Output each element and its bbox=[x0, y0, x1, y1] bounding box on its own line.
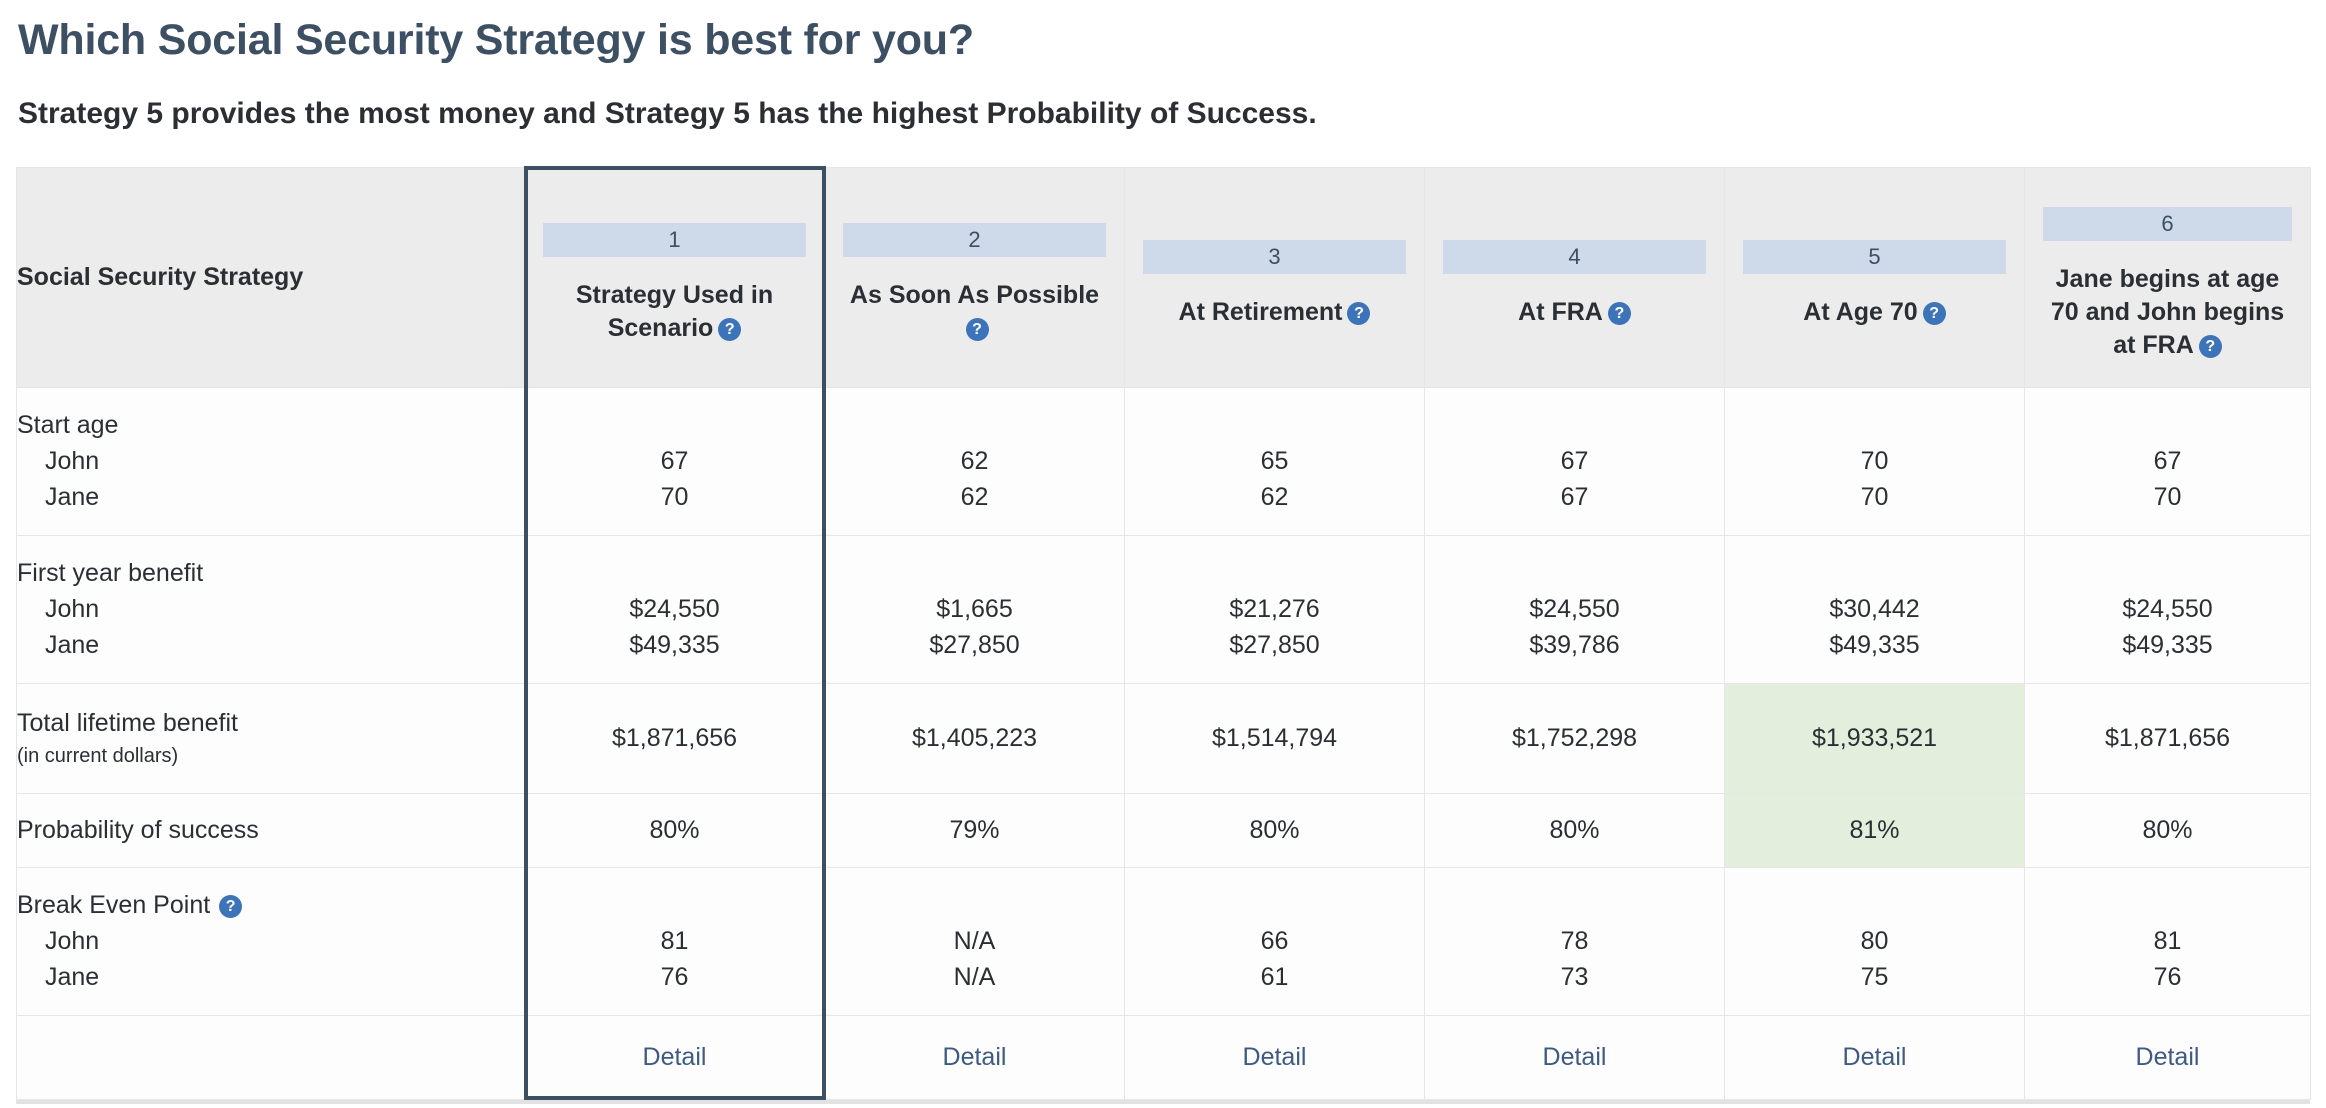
column-header-3: 3 At Retirement? bbox=[1125, 167, 1425, 387]
table-row-break-even-point: Break Even Point? John Jane x 81 76 x N/… bbox=[17, 867, 2311, 1015]
column-number-badge-5: 5 bbox=[1743, 240, 2006, 274]
value-john: 67 bbox=[2025, 443, 2310, 479]
table-corner-label: Social Security Strategy bbox=[17, 167, 525, 387]
help-icon-column-1[interactable]: ? bbox=[718, 318, 741, 341]
cell-start-age-col2: x 62 62 bbox=[825, 387, 1125, 535]
help-icon-column-4[interactable]: ? bbox=[1608, 302, 1631, 325]
value-john: $24,550 bbox=[1425, 591, 1724, 627]
cell-first-year-benefit-col4: x $24,550 $39,786 bbox=[1425, 535, 1725, 683]
row-sublabel-jane: Jane bbox=[17, 627, 524, 663]
table-row-detail-links: Detail Detail Detail Detail Detail Detai… bbox=[17, 1015, 2311, 1099]
help-icon-column-3[interactable]: ? bbox=[1347, 302, 1370, 325]
detail-link-3[interactable]: Detail bbox=[1243, 1043, 1307, 1071]
value-john: $21,276 bbox=[1125, 591, 1424, 627]
cell-detail-col2: Detail bbox=[825, 1015, 1125, 1099]
row-label-text: Start age bbox=[17, 407, 524, 443]
cell-probability-col6: 80% bbox=[2025, 793, 2311, 867]
value-john: 70 bbox=[1725, 443, 2024, 479]
value-jane: 62 bbox=[1125, 479, 1424, 515]
cell-start-age-col6: x 67 70 bbox=[2025, 387, 2311, 535]
cell-first-year-benefit-col5: x $30,442 $49,335 bbox=[1725, 535, 2025, 683]
value: 80% bbox=[2025, 812, 2310, 848]
column-number-badge-2: 2 bbox=[843, 223, 1106, 257]
row-label-break-even-point: Break Even Point? John Jane bbox=[17, 867, 525, 1015]
value-jane: $49,335 bbox=[1725, 627, 2024, 663]
row-label-detail bbox=[17, 1015, 525, 1099]
help-icon-column-5[interactable]: ? bbox=[1923, 302, 1946, 325]
row-label-text: Probability of success bbox=[17, 812, 524, 848]
help-icon-column-2[interactable]: ? bbox=[966, 318, 989, 341]
value-jane: 61 bbox=[1125, 959, 1424, 995]
value-jane: 70 bbox=[1725, 479, 2024, 515]
cell-total-lifetime-benefit-col6: $1,871,656 bbox=[2025, 683, 2311, 793]
cell-detail-col4: Detail bbox=[1425, 1015, 1725, 1099]
detail-link-5[interactable]: Detail bbox=[1843, 1043, 1907, 1071]
value-john: $1,665 bbox=[825, 591, 1124, 627]
column-title-1: Strategy Used in Scenario bbox=[576, 281, 773, 342]
table-row-start-age: Start age John Jane x 67 70 x 62 62 x 65 bbox=[17, 387, 2311, 535]
social-security-strategy-table: Social Security Strategy 1 Strategy Used… bbox=[16, 167, 2311, 1100]
help-icon-column-6[interactable]: ? bbox=[2199, 335, 2222, 358]
page-title: Which Social Security Strategy is best f… bbox=[18, 14, 2310, 68]
row-label-note: (in current dollars) bbox=[17, 741, 524, 771]
column-number-badge-1: 1 bbox=[543, 223, 806, 257]
value-jane: 75 bbox=[1725, 959, 2024, 995]
detail-link-4[interactable]: Detail bbox=[1543, 1043, 1607, 1071]
cell-break-even-col6: x 81 76 bbox=[2025, 867, 2311, 1015]
value-john: 67 bbox=[1425, 443, 1724, 479]
column-title-6: Jane begins at age 70 and John begins at… bbox=[2051, 265, 2284, 359]
row-label-text: First year benefit bbox=[17, 555, 524, 591]
value: $1,405,223 bbox=[825, 720, 1124, 756]
cell-start-age-col1: x 67 70 bbox=[525, 387, 825, 535]
value-jane: $39,786 bbox=[1425, 627, 1724, 663]
cell-first-year-benefit-col6: x $24,550 $49,335 bbox=[2025, 535, 2311, 683]
value: 80% bbox=[525, 812, 824, 848]
cell-break-even-col2: x N/A N/A bbox=[825, 867, 1125, 1015]
value-jane: 70 bbox=[2025, 479, 2310, 515]
table-row-first-year-benefit: First year benefit John Jane x $24,550 $… bbox=[17, 535, 2311, 683]
row-label-line: Break Even Point? bbox=[17, 887, 524, 923]
bottom-divider bbox=[16, 1100, 2310, 1104]
table-row-total-lifetime-benefit: Total lifetime benefit (in current dolla… bbox=[17, 683, 2311, 793]
cell-start-age-col3: x 65 62 bbox=[1125, 387, 1425, 535]
cell-detail-col1: Detail bbox=[525, 1015, 825, 1099]
value-john: $30,442 bbox=[1725, 591, 2024, 627]
column-number-badge-6: 6 bbox=[2043, 207, 2292, 241]
column-title-4: At FRA bbox=[1518, 298, 1603, 326]
cell-first-year-benefit-col3: x $21,276 $27,850 bbox=[1125, 535, 1425, 683]
cell-total-lifetime-benefit-col5: $1,933,521 bbox=[1725, 683, 2025, 793]
value: 79% bbox=[825, 812, 1124, 848]
detail-link-2[interactable]: Detail bbox=[943, 1043, 1007, 1071]
value: $1,871,656 bbox=[2025, 720, 2310, 756]
value-jane: 67 bbox=[1425, 479, 1724, 515]
value: 81% bbox=[1725, 812, 2024, 848]
value-john: 65 bbox=[1125, 443, 1424, 479]
help-icon-break-even-point[interactable]: ? bbox=[219, 895, 242, 918]
column-number-badge-3: 3 bbox=[1143, 240, 1406, 274]
column-header-2: 2 As Soon As Possible? bbox=[825, 167, 1125, 387]
column-header-5: 5 At Age 70? bbox=[1725, 167, 2025, 387]
cell-probability-col1: 80% bbox=[525, 793, 825, 867]
value-jane: 76 bbox=[525, 959, 824, 995]
value: $1,514,794 bbox=[1125, 720, 1424, 756]
cell-first-year-benefit-col1: x $24,550 $49,335 bbox=[525, 535, 825, 683]
value-jane: $27,850 bbox=[825, 627, 1124, 663]
row-label-probability-of-success: Probability of success bbox=[17, 793, 525, 867]
value-jane: $27,850 bbox=[1125, 627, 1424, 663]
value-john: 62 bbox=[825, 443, 1124, 479]
column-header-4: 4 At FRA? bbox=[1425, 167, 1725, 387]
cell-break-even-col4: x 78 73 bbox=[1425, 867, 1725, 1015]
row-label-text: Break Even Point bbox=[17, 891, 210, 919]
row-label-start-age: Start age John Jane bbox=[17, 387, 525, 535]
value-john: $24,550 bbox=[2025, 591, 2310, 627]
table-header-row: Social Security Strategy 1 Strategy Used… bbox=[17, 167, 2311, 387]
column-title-5: At Age 70 bbox=[1803, 298, 1917, 326]
value: $1,871,656 bbox=[525, 720, 824, 756]
row-sublabel-jane: Jane bbox=[17, 479, 524, 515]
value: $1,933,521 bbox=[1725, 720, 2024, 756]
cell-total-lifetime-benefit-col4: $1,752,298 bbox=[1425, 683, 1725, 793]
cell-detail-col3: Detail bbox=[1125, 1015, 1425, 1099]
cell-total-lifetime-benefit-col1: $1,871,656 bbox=[525, 683, 825, 793]
cell-total-lifetime-benefit-col3: $1,514,794 bbox=[1125, 683, 1425, 793]
cell-total-lifetime-benefit-col2: $1,405,223 bbox=[825, 683, 1125, 793]
cell-break-even-col5: x 80 75 bbox=[1725, 867, 2025, 1015]
row-sublabel-john: John bbox=[17, 923, 524, 959]
cell-break-even-col3: x 66 61 bbox=[1125, 867, 1425, 1015]
column-title-3: At Retirement bbox=[1179, 298, 1343, 326]
value-john: 78 bbox=[1425, 923, 1724, 959]
row-label-text: Total lifetime benefit bbox=[17, 705, 524, 741]
cell-probability-col4: 80% bbox=[1425, 793, 1725, 867]
detail-link-6[interactable]: Detail bbox=[2136, 1043, 2200, 1071]
column-header-6: 6 Jane begins at age 70 and John begins … bbox=[2025, 167, 2311, 387]
value-john: 67 bbox=[525, 443, 824, 479]
detail-link-1[interactable]: Detail bbox=[643, 1043, 707, 1071]
cell-probability-col2: 79% bbox=[825, 793, 1125, 867]
value-john: 80 bbox=[1725, 923, 2024, 959]
cell-first-year-benefit-col2: x $1,665 $27,850 bbox=[825, 535, 1125, 683]
row-label-first-year-benefit: First year benefit John Jane bbox=[17, 535, 525, 683]
column-number-badge-4: 4 bbox=[1443, 240, 1706, 274]
value-jane: 70 bbox=[525, 479, 824, 515]
table-row-probability-of-success: Probability of success 80% 79% 80% 80% 8… bbox=[17, 793, 2311, 867]
value: 80% bbox=[1425, 812, 1724, 848]
value-jane: N/A bbox=[825, 959, 1124, 995]
column-header-1: 1 Strategy Used in Scenario? bbox=[525, 167, 825, 387]
value: 80% bbox=[1125, 812, 1424, 848]
value: $1,752,298 bbox=[1425, 720, 1724, 756]
value-jane: 76 bbox=[2025, 959, 2310, 995]
cell-break-even-col1: x 81 76 bbox=[525, 867, 825, 1015]
value-jane: $49,335 bbox=[525, 627, 824, 663]
row-sublabel-john: John bbox=[17, 591, 524, 627]
row-sublabel-john: John bbox=[17, 443, 524, 479]
value-john: N/A bbox=[825, 923, 1124, 959]
cell-probability-col3: 80% bbox=[1125, 793, 1425, 867]
column-title-2: As Soon As Possible bbox=[850, 281, 1099, 309]
value-john: 81 bbox=[525, 923, 824, 959]
row-label-total-lifetime-benefit: Total lifetime benefit (in current dolla… bbox=[17, 683, 525, 793]
page-root: Which Social Security Strategy is best f… bbox=[0, 0, 2326, 1104]
cell-start-age-col5: x 70 70 bbox=[1725, 387, 2025, 535]
cell-probability-col5: 81% bbox=[1725, 793, 2025, 867]
value-jane: 73 bbox=[1425, 959, 1724, 995]
value-jane: $49,335 bbox=[2025, 627, 2310, 663]
cell-start-age-col4: x 67 67 bbox=[1425, 387, 1725, 535]
value-john: $24,550 bbox=[525, 591, 824, 627]
cell-detail-col5: Detail bbox=[1725, 1015, 2025, 1099]
row-sublabel-jane: Jane bbox=[17, 959, 524, 995]
page-subtitle: Strategy 5 provides the most money and S… bbox=[18, 94, 2310, 133]
value-john: 81 bbox=[2025, 923, 2310, 959]
value-jane: 62 bbox=[825, 479, 1124, 515]
value-john: 66 bbox=[1125, 923, 1424, 959]
cell-detail-col6: Detail bbox=[2025, 1015, 2311, 1099]
strategy-table-container: Social Security Strategy 1 Strategy Used… bbox=[16, 167, 2310, 1100]
